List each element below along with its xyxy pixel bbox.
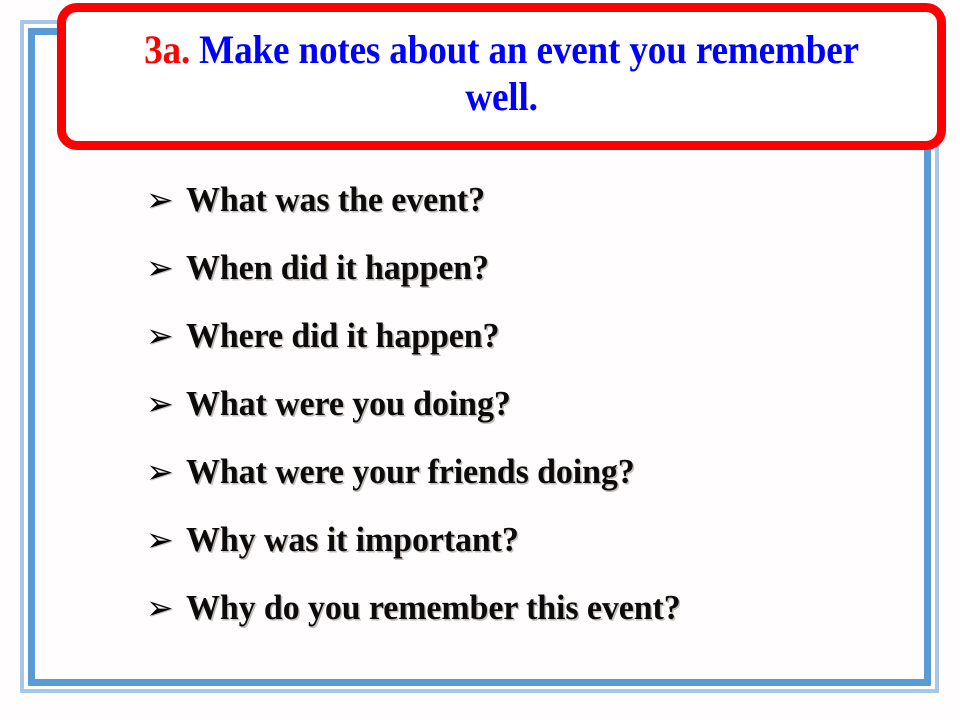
question-list: ➢ What was the event? ➢ When did it happ… [146,182,906,658]
arrowhead-bullet-icon: ➢ [146,387,186,420]
list-item: ➢ Why do you remember this event? [146,590,906,658]
page-title: 3a. Make notes about an event you rememb… [111,26,891,120]
list-item-label: What were you doing? [186,386,511,421]
list-item: ➢ When did it happen? [146,250,906,318]
arrowhead-bullet-icon: ➢ [146,523,186,556]
slide-canvas: 3a. Make notes about an event you rememb… [0,0,960,720]
list-item-label: Where did it happen? [186,318,499,353]
list-item: ➢ What were you doing? [146,386,906,454]
arrowhead-bullet-icon: ➢ [146,319,186,352]
title-main-text: Make notes about an event you remember w… [190,27,859,119]
arrowhead-bullet-icon: ➢ [146,251,186,284]
list-item-label: When did it happen? [186,250,489,285]
list-item-label: What was the event? [186,182,485,217]
list-item: ➢ What was the event? [146,182,906,250]
list-item: ➢ Why was it important? [146,522,906,590]
arrowhead-bullet-icon: ➢ [146,455,186,488]
list-item: ➢ What were your friends doing? [146,454,906,522]
list-item: ➢ Where did it happen? [146,318,906,386]
list-item-label: Why was it important? [186,522,519,557]
list-item-label: What were your friends doing? [186,454,635,489]
arrowhead-bullet-icon: ➢ [146,183,186,216]
arrowhead-bullet-icon: ➢ [146,591,186,624]
title-number: 3a. [144,27,190,72]
list-item-label: Why do you remember this event? [186,590,681,625]
title-callout-box: 3a. Make notes about an event you rememb… [57,3,946,150]
